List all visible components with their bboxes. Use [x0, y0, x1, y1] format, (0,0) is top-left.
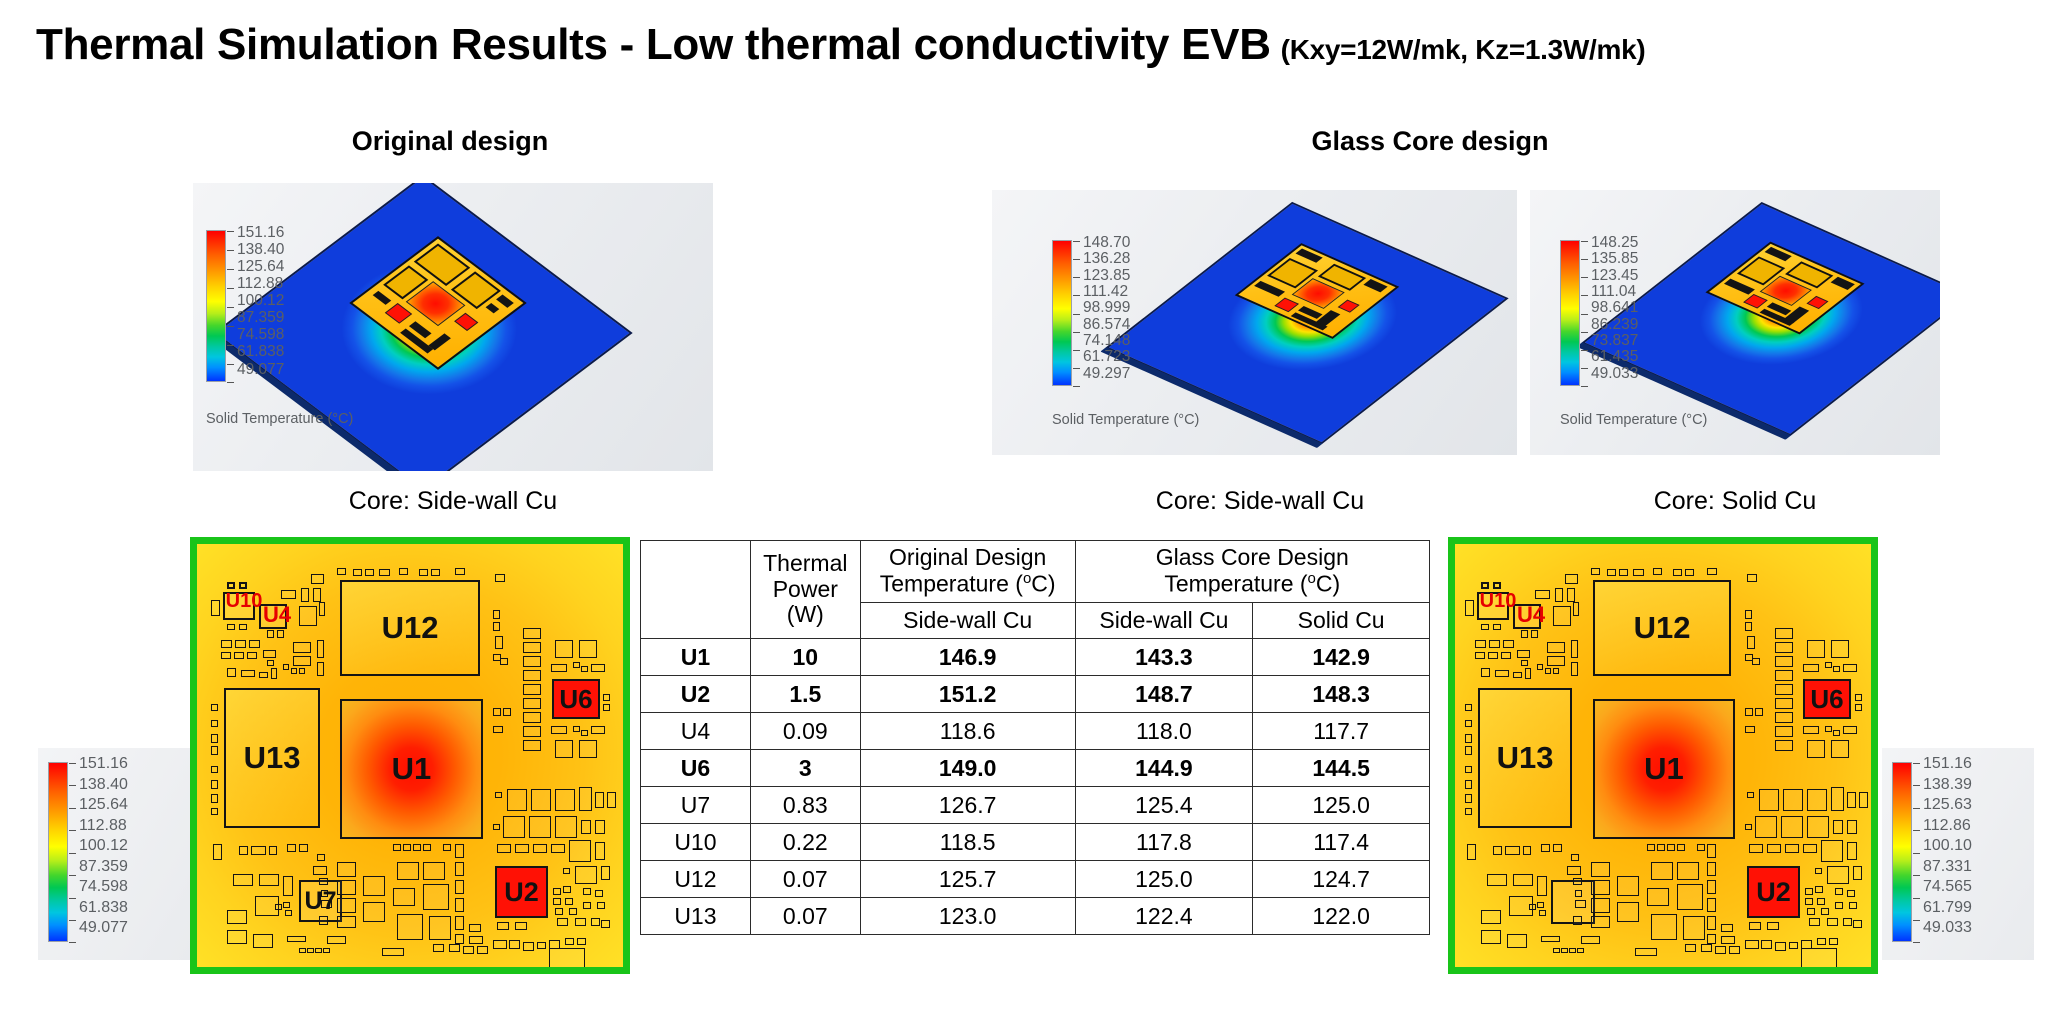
colorbar-label: 112.86 [1923, 818, 1972, 834]
colorbar-label: 125.64 [237, 259, 284, 275]
colorbar-labels-board-left: 151.16 138.40 125.64 112.88 100.12 87.35… [79, 756, 128, 936]
pcb-label-u6-right: U6 [1803, 679, 1851, 719]
table-cell-original-sidewall: 118.6 [860, 713, 1075, 750]
colorbar-gradient [1560, 240, 1580, 386]
pcb-label-u12-right: U12 [1593, 580, 1731, 676]
colorbar-board-left: 151.16 138.40 125.64 112.88 100.12 87.35… [38, 748, 190, 960]
table-row: U130.07123.0122.4122.0 [641, 898, 1430, 935]
table-cell-original-sidewall: 149.0 [860, 750, 1075, 787]
table-cell-power: 1.5 [750, 676, 860, 713]
colorbar-ticks [227, 231, 234, 381]
colorbar-label: 100.12 [79, 838, 128, 854]
table-cell-glass-solid: 117.4 [1253, 824, 1430, 861]
table-header-thermal-power: ThermalPower (W) [750, 541, 860, 639]
colorbar-label: 74.598 [79, 879, 128, 895]
table-cell-power: 0.83 [750, 787, 860, 824]
caption-core-middle: Core: Side-wall Cu [1000, 487, 1520, 516]
colorbar-label: 138.40 [237, 242, 284, 258]
pcb-label-u7-left: U7 [299, 880, 342, 922]
sim-panel-glass-solid: 148.25 135.85 123.45 111.04 98.641 86.23… [1530, 190, 1940, 455]
sim-panel-glass-sidewall: 148.70 136.28 123.85 111.42 98.999 86.57… [992, 190, 1517, 455]
colorbar-gradient [1892, 762, 1912, 942]
colorbar-label: 151.16 [237, 225, 284, 241]
pcb-label-u4-right: U4 [1511, 602, 1551, 628]
colorbar-glass-sidewall: 148.70 136.28 123.85 111.42 98.999 86.57… [1052, 240, 1130, 386]
colorbar-gradient [1052, 240, 1072, 386]
table-subheader-glass-sidewall: Side-wall Cu [1075, 603, 1253, 639]
colorbar-label: 61.435 [1591, 349, 1638, 365]
table-cell-glass-sidewall: 117.8 [1075, 824, 1253, 861]
table-cell-component: U1 [641, 639, 751, 676]
table-row: U120.07125.7125.0124.7 [641, 861, 1430, 898]
table-row: U100.22118.5117.8117.4 [641, 824, 1430, 861]
pcb-label-u4-left: U4 [257, 602, 297, 628]
table-cell-component: U12 [641, 861, 751, 898]
pcb-label-u13-right: U13 [1478, 688, 1572, 828]
colorbar-label: 61.723 [1083, 349, 1130, 365]
results-table: ThermalPower (W) Original DesignTemperat… [640, 540, 1430, 935]
colorbar-ticks [1073, 241, 1080, 385]
caption-core-left: Core: Side-wall Cu [183, 487, 723, 516]
table-cell-glass-sidewall: 125.0 [1075, 861, 1253, 898]
table-row: U21.5151.2148.7148.3 [641, 676, 1430, 713]
colorbar-label: 49.077 [237, 362, 284, 378]
colorbar-label: 151.16 [1923, 756, 1972, 772]
colorbar-label: 49.033 [1591, 366, 1638, 382]
table-cell-glass-sidewall: 143.3 [1075, 639, 1253, 676]
colorbar-label: 100.10 [1923, 838, 1972, 854]
table-subheader-glass-solid: Solid Cu [1253, 603, 1430, 639]
colorbar-label: 87.331 [1923, 859, 1972, 875]
table-cell-power: 0.07 [750, 898, 860, 935]
colorbar-label: 49.077 [79, 920, 128, 936]
table-cell-original-sidewall: 126.7 [860, 787, 1075, 824]
pcb-label-u2-left: U2 [495, 866, 548, 918]
colorbar-label: 125.63 [1923, 797, 1972, 813]
thermal-plate-original [253, 183, 713, 471]
colorbar-label: 111.04 [1591, 284, 1638, 300]
colorbar-label: 74.565 [1923, 879, 1972, 895]
colorbar-label: 61.838 [237, 344, 284, 360]
colorbar-gradient [206, 230, 226, 382]
colorbar-label: 112.88 [237, 276, 284, 292]
colorbar-label: 111.42 [1083, 284, 1130, 300]
colorbar-label: 98.999 [1083, 300, 1130, 316]
colorbar-label: 87.359 [79, 859, 128, 875]
page-title: Thermal Simulation Results - Low thermal… [36, 20, 2026, 80]
table-cell-glass-sidewall: 144.9 [1075, 750, 1253, 787]
table-cell-power: 0.09 [750, 713, 860, 750]
colorbar-label: 125.64 [79, 797, 128, 813]
colorbar-label: 135.85 [1591, 251, 1638, 267]
table-cell-component: U2 [641, 676, 751, 713]
pcb-label-u1-right: U1 [1593, 699, 1735, 839]
colorbar-label: 61.838 [79, 900, 128, 916]
colorbar-board-right: 151.16 138.39 125.63 112.86 100.10 87.33… [1882, 748, 2034, 960]
colorbar-label: 73.837 [1591, 333, 1638, 349]
table-cell-original-sidewall: 118.5 [860, 824, 1075, 861]
colorbar-label: 123.85 [1083, 268, 1130, 284]
table-cell-component: U13 [641, 898, 751, 935]
colorbar-label: 100.12 [237, 293, 284, 309]
table-cell-glass-sidewall: 118.0 [1075, 713, 1253, 750]
colorbar-glass-solid: 148.25 135.85 123.45 111.04 98.641 86.23… [1560, 240, 1638, 386]
table-row: U40.09118.6118.0117.7 [641, 713, 1430, 750]
sim-panel-original: 151.16 138.40 125.64 112.88 100.12 87.35… [193, 183, 713, 471]
colorbar-labels-board-right: 151.16 138.39 125.63 112.86 100.10 87.33… [1923, 756, 1972, 936]
table-row: U63149.0144.9144.5 [641, 750, 1430, 787]
table-cell-glass-sidewall: 148.7 [1075, 676, 1253, 713]
colorbar-label: 112.88 [79, 818, 128, 834]
colorbar-label: 87.359 [237, 310, 284, 326]
table-cell-power: 0.07 [750, 861, 860, 898]
table-header-component [641, 541, 751, 639]
table-cell-glass-sidewall: 125.4 [1075, 787, 1253, 824]
colorbar-label: 86.574 [1083, 317, 1130, 333]
page-title-main: Thermal Simulation Results - Low thermal… [36, 20, 1271, 70]
colorbar-labels-glass-solid: 148.25 135.85 123.45 111.04 98.641 86.23… [1591, 235, 1638, 381]
colorbar-label: 136.28 [1083, 251, 1130, 267]
table-cell-component: U4 [641, 713, 751, 750]
pcb-label-u1-left: U1 [340, 699, 483, 839]
table-cell-power: 10 [750, 639, 860, 676]
colorbar-title-glass-solid: Solid Temperature (°C) [1560, 412, 1707, 428]
table-cell-power: 0.22 [750, 824, 860, 861]
table-cell-component: U6 [641, 750, 751, 787]
colorbar-labels-glass-sidewall: 148.70 136.28 123.85 111.42 98.999 86.57… [1083, 235, 1130, 381]
table-header-original-design: Original DesignTemperature (oC) [860, 541, 1075, 603]
pcb-label-u6-left: U6 [552, 679, 600, 719]
table-row: U110146.9143.3142.9 [641, 639, 1430, 676]
pcb-label-u12-left: U12 [340, 580, 480, 676]
colorbar-label: 49.033 [1923, 920, 1972, 936]
colorbar-label: 61.799 [1923, 900, 1972, 916]
colorbar-title-glass-sidewall: Solid Temperature (°C) [1052, 412, 1199, 428]
table-cell-glass-sidewall: 122.4 [1075, 898, 1253, 935]
colorbar-ticks [1913, 763, 1920, 941]
colorbar-labels-original: 151.16 138.40 125.64 112.88 100.12 87.35… [237, 225, 284, 377]
table-cell-component: U10 [641, 824, 751, 861]
table-header-row-groups: ThermalPower (W) Original DesignTemperat… [641, 541, 1430, 603]
table-cell-glass-solid: 117.7 [1253, 713, 1430, 750]
colorbar-label: 49.297 [1083, 366, 1130, 382]
table-cell-glass-solid: 144.5 [1253, 750, 1430, 787]
pcb-board-original: U10 U4 U12 U6 U13 U1 U7 U2 [190, 537, 630, 974]
table-cell-glass-solid: 125.0 [1253, 787, 1430, 824]
table-row: U70.83126.7125.4125.0 [641, 787, 1430, 824]
colorbar-label: 98.641 [1591, 300, 1638, 316]
table-header-glass-core-design: Glass Core DesignTemperature (oC) [1075, 541, 1429, 603]
pcb-label-u13-left: U13 [224, 688, 320, 828]
table-cell-glass-solid: 148.3 [1253, 676, 1430, 713]
table-cell-original-sidewall: 123.0 [860, 898, 1075, 935]
colorbar-label: 138.39 [1923, 777, 1972, 793]
table-cell-glass-solid: 142.9 [1253, 639, 1430, 676]
table-cell-component: U7 [641, 787, 751, 824]
colorbar-original: 151.16 138.40 125.64 112.88 100.12 87.35… [206, 230, 284, 382]
colorbar-ticks [1581, 241, 1588, 385]
colorbar-label: 151.16 [79, 756, 128, 772]
table-cell-original-sidewall: 146.9 [860, 639, 1075, 676]
colorbar-label: 123.45 [1591, 268, 1638, 284]
colorbar-gradient [48, 762, 68, 942]
page-title-conductivity: (Kxy=12W/mk, Kz=1.3W/mk) [1281, 34, 1646, 66]
table-subheader-original-sidewall: Side-wall Cu [860, 603, 1075, 639]
table-cell-power: 3 [750, 750, 860, 787]
colorbar-label: 148.25 [1591, 235, 1638, 251]
pcb-board-glass-core: U10 U4 U12 U6 U13 U1 U2 [1448, 537, 1878, 974]
table-body: U110146.9143.3142.9U21.5151.2148.7148.3U… [641, 639, 1430, 935]
section-heading-glass-core: Glass Core design [1180, 126, 1680, 157]
colorbar-label: 86.239 [1591, 317, 1638, 333]
colorbar-label: 74.148 [1083, 333, 1130, 349]
pcb-label-u2-right: U2 [1747, 866, 1800, 918]
colorbar-label: 74.598 [237, 327, 284, 343]
table-cell-original-sidewall: 151.2 [860, 676, 1075, 713]
table-cell-glass-solid: 124.7 [1253, 861, 1430, 898]
caption-core-right: Core: Solid Cu [1530, 487, 1940, 516]
colorbar-title-original: Solid Temperature (°C) [206, 411, 353, 427]
colorbar-label: 138.40 [79, 777, 128, 793]
section-heading-original: Original design [200, 126, 700, 157]
table-cell-original-sidewall: 125.7 [860, 861, 1075, 898]
colorbar-label: 148.70 [1083, 235, 1130, 251]
table-cell-glass-solid: 122.0 [1253, 898, 1430, 935]
colorbar-ticks [69, 763, 76, 941]
